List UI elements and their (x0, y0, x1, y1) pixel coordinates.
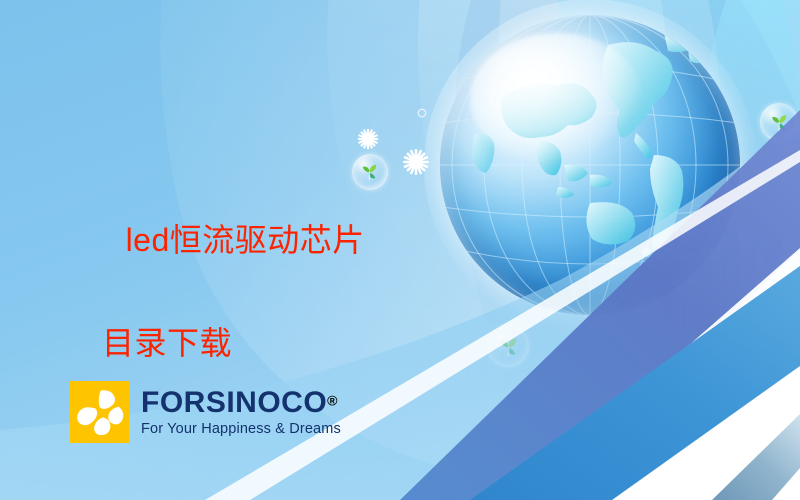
brand-logo: FORSINOCO® For Your Happiness & Dreams (70, 381, 341, 443)
globe-sphere (440, 15, 740, 315)
brand-tagline: For Your Happiness & Dreams (141, 422, 341, 437)
bubble-with-leaf (760, 103, 798, 141)
globe-graphic (440, 15, 740, 315)
headline-line-2: 目录下载 (88, 318, 418, 370)
leaf-icon (767, 110, 791, 134)
globe-rim (440, 15, 740, 315)
sparkle-icon (357, 128, 379, 150)
leaf-icon (495, 333, 522, 360)
slide-canvas: led恒流驱动芯片 目录下载 FORSINOCO® For Your Happi… (0, 0, 800, 500)
bubble-with-leaf (487, 325, 529, 367)
headline-line-1: led恒流驱动芯片 (126, 222, 365, 258)
pinwheel-flower-icon (70, 381, 129, 443)
brand-text: FORSINOCO® For Your Happiness & Dreams (141, 388, 341, 437)
registered-mark: ® (327, 392, 337, 408)
sparkle-icon (417, 108, 427, 118)
brand-name: FORSINOCO (141, 388, 327, 418)
